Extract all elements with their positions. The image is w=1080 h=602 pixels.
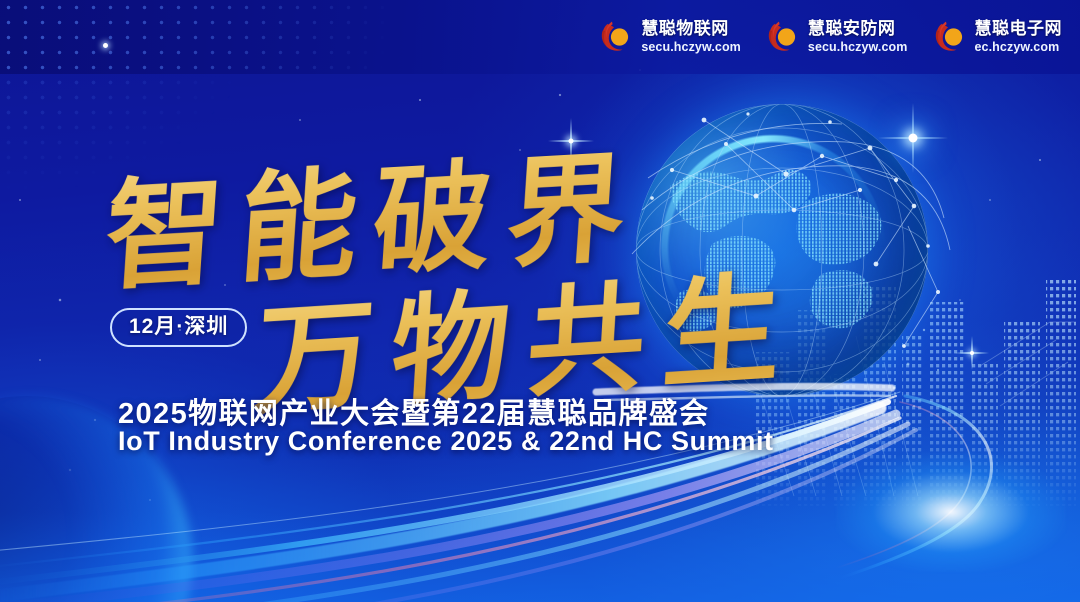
subtitle-english: IoT Industry Conference 2025 & 22nd HC S…: [118, 426, 774, 457]
logo-url: ec.hczyw.com: [975, 41, 1063, 54]
logo-name: 慧聪电子网: [975, 20, 1063, 37]
flame-circle-icon: [600, 21, 634, 53]
hero-content: 智能破界 万物共生 12月·深圳 2025物联网产业大会暨第22届慧聪品牌盛会 …: [0, 0, 1080, 602]
logo-name: 慧聪物联网: [641, 20, 741, 37]
top-banner-bar: 慧聪物联网 secu.hczyw.com 慧聪安防网 secu.hczyw.co…: [0, 0, 1080, 74]
logo-name: 慧聪安防网: [808, 20, 908, 37]
logo-url: secu.hczyw.com: [808, 41, 908, 54]
logo-url: secu.hczyw.com: [641, 41, 741, 54]
logo-hc-electronics[interactable]: 慧聪电子网 ec.hczyw.com: [926, 20, 1071, 54]
logo-hc-iot[interactable]: 慧聪物联网 secu.hczyw.com: [592, 20, 749, 54]
accent-dot: [103, 43, 108, 48]
partner-logo-group: 慧聪物联网 secu.hczyw.com 慧聪安防网 secu.hczyw.co…: [592, 0, 1070, 74]
flame-circle-icon: [767, 21, 801, 53]
logo-hc-security[interactable]: 慧聪安防网 secu.hczyw.com: [759, 20, 916, 54]
flame-circle-icon: [934, 21, 968, 53]
event-poster: 慧聪物联网 secu.hczyw.com 慧聪安防网 secu.hczyw.co…: [0, 0, 1080, 602]
halftone-dot-pattern-bar: [0, 0, 420, 74]
date-location-badge: 12月·深圳: [110, 308, 247, 347]
